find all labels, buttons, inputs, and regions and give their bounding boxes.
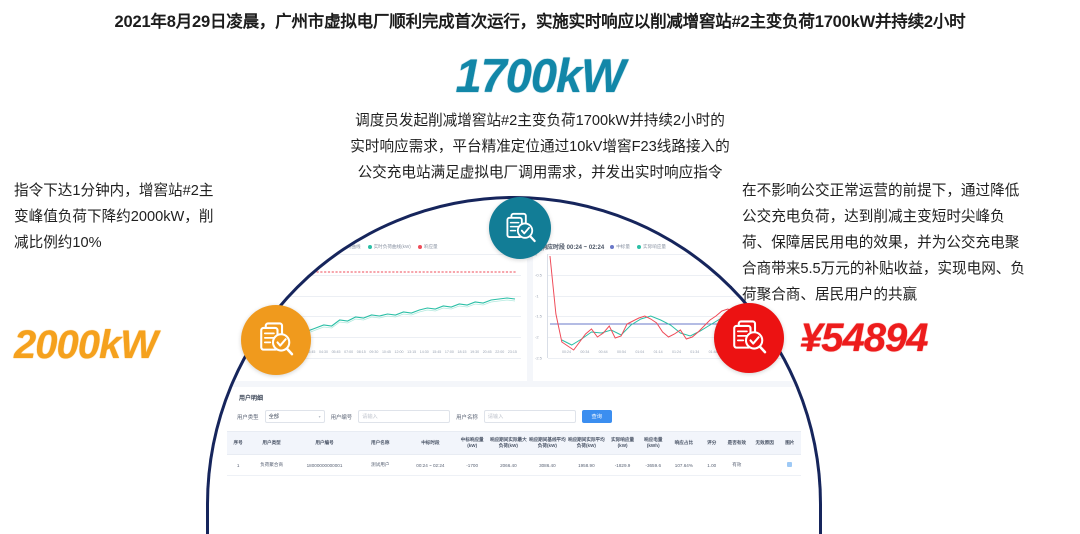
stat-subsidy-revenue: ¥54894 (800, 318, 927, 358)
paragraph-right-line-2: 公交充电负荷，达到削减主变短时尖峰负 (742, 204, 1072, 230)
paragraph-left-line-3: 减比例约10% (14, 230, 260, 256)
page-title: 2021年8月29日凌晨，广州市虚拟电厂顺利完成首次运行，实施实时响应以削减增窖… (0, 8, 1080, 32)
badge-left (241, 305, 311, 375)
document-search-check-icon (727, 316, 770, 359)
badge-right (714, 303, 784, 373)
paragraph-top-line-2: 实时响应需求，平台精准定位通过10kV增窖F23线路接入的 (0, 134, 1080, 160)
paragraph-left-line-2: 变峰值负荷下降约2000kW，削 (14, 204, 260, 230)
paragraph-left-line-1: 指令下达1分钟内，增窖站#2主 (14, 178, 260, 204)
document-search-check-icon (254, 318, 297, 361)
paragraph-left: 指令下达1分钟内，增窖站#2主 变峰值负荷下降约2000kW，削 减比例约10% (14, 178, 260, 256)
document-search-check-icon (501, 209, 539, 247)
paragraph-top-line-1: 调度员发起削减增窖站#2主变负荷1700kW并持续2小时的 (0, 108, 1080, 134)
x-tick: 02:24 (782, 350, 791, 354)
stat-peak-drop: 2000kW (14, 325, 157, 365)
badge-top (489, 197, 551, 259)
paragraph-top: 调度员发起削减增窖站#2主变负荷1700kW并持续2小时的 实时响应需求，平台精… (0, 108, 1080, 186)
slide-root: 2021年8月29日凌晨，广州市虚拟电厂顺利完成首次运行，实施实时响应以削减增窖… (0, 0, 1080, 534)
legend-color-dot (327, 245, 331, 249)
paragraph-right-line-1: 在不影响公交正常运营的前提下，通过降低 (742, 178, 1072, 204)
stat-target-reduction: 1700kW (0, 52, 1080, 99)
